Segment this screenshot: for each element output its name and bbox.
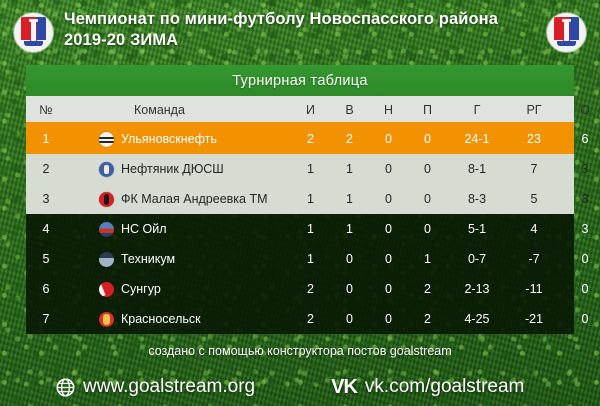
row-team: Красносельск <box>66 312 291 327</box>
poster-root: Чемпионат по мини-футболу Новоспасского … <box>0 0 600 406</box>
row-drawn: 0 <box>369 192 408 206</box>
section-title-band: Турнирная таблица <box>26 65 574 96</box>
site-link[interactable]: www.goalstream.org <box>56 376 255 398</box>
row-played: 1 <box>291 252 330 266</box>
vk-link[interactable]: VK vk.com/goalstream <box>331 376 524 399</box>
row-played: 1 <box>291 192 330 206</box>
row-position: 1 <box>26 132 66 146</box>
row-points: 0 <box>561 312 600 326</box>
crest-right-icon <box>547 13 586 52</box>
row-drawn: 0 <box>369 282 408 296</box>
row-team-label: Красносельск <box>121 312 201 326</box>
row-played: 2 <box>291 312 330 326</box>
team-logo-icon <box>99 222 114 237</box>
column-header-diff: РГ <box>507 103 561 117</box>
row-team: ФК Малая Андреевка ТМ <box>66 192 291 207</box>
table-row[interactable]: 7Красносельск20024-25-210 <box>26 304 574 334</box>
row-lost: 0 <box>408 222 447 236</box>
row-played: 2 <box>291 132 330 146</box>
row-team-label: Техникум <box>121 252 175 266</box>
row-position: 5 <box>26 252 66 266</box>
row-goals: 0-7 <box>447 252 507 266</box>
row-won: 0 <box>330 252 369 266</box>
row-lost: 2 <box>408 282 447 296</box>
row-lost: 0 <box>408 132 447 146</box>
team-logo-icon <box>99 312 114 327</box>
row-team: НС Ойл <box>66 222 291 237</box>
row-team: Ульяновскнефть <box>66 132 291 147</box>
row-team-label: ФК Малая Андреевка ТМ <box>121 192 268 206</box>
column-header-drawn: Н <box>369 103 408 117</box>
row-team-label: Ульяновскнефть <box>121 132 217 146</box>
row-team-label: НС Ойл <box>121 222 167 236</box>
row-goals: 4-25 <box>447 312 507 326</box>
table-row[interactable]: 3ФК Малая Андреевка ТМ11008-353 <box>26 184 574 214</box>
table-header-row: № Команда И В Н П Г РГ О <box>26 96 574 124</box>
team-logo-icon <box>99 192 114 207</box>
footer-links: www.goalstream.org VK vk.com/goalstream <box>0 370 600 404</box>
row-diff: 7 <box>507 162 561 176</box>
row-goals: 5-1 <box>447 222 507 236</box>
row-points: 0 <box>561 252 600 266</box>
table-row[interactable]: 5Техникум10010-7-70 <box>26 244 574 274</box>
row-played: 1 <box>291 162 330 176</box>
row-team: Нефтяник ДЮСШ <box>66 162 291 177</box>
row-goals: 2-13 <box>447 282 507 296</box>
row-team-label: Сунгур <box>121 282 161 296</box>
row-lost: 2 <box>408 312 447 326</box>
page-title: Чемпионат по мини-футболу Новоспасского … <box>64 9 534 51</box>
row-won: 1 <box>330 222 369 236</box>
team-logo-icon <box>99 282 114 297</box>
table-row[interactable]: 2Нефтяник ДЮСШ11008-173 <box>26 154 574 184</box>
row-played: 2 <box>291 282 330 296</box>
row-drawn: 0 <box>369 132 408 146</box>
row-points: 0 <box>561 282 600 296</box>
table-row[interactable]: 6Сунгур20022-13-110 <box>26 274 574 304</box>
vk-icon: VK <box>331 376 357 399</box>
row-diff: 5 <box>507 192 561 206</box>
section-title: Турнирная таблица <box>232 73 368 89</box>
site-link-label: www.goalstream.org <box>83 376 255 398</box>
column-header-points: О <box>561 103 600 117</box>
team-logo-icon <box>99 162 114 177</box>
crest-left-icon <box>14 13 53 52</box>
row-diff: -11 <box>507 282 561 296</box>
column-header-num: № <box>26 103 66 117</box>
column-header-goals: Г <box>447 103 507 117</box>
row-points: 3 <box>561 162 600 176</box>
row-position: 7 <box>26 312 66 326</box>
row-won: 0 <box>330 282 369 296</box>
row-team: Сунгур <box>66 282 291 297</box>
row-won: 1 <box>330 162 369 176</box>
footer-credit: создано с помощью конструктора постов go… <box>0 344 600 358</box>
table-row[interactable]: 1Ульяновскнефть220024-1236 <box>26 124 574 154</box>
row-position: 4 <box>26 222 66 236</box>
row-diff: 23 <box>507 132 561 146</box>
column-header-lost: П <box>408 103 447 117</box>
row-points: 3 <box>561 222 600 236</box>
column-header-team: Команда <box>66 103 291 117</box>
poster-header: Чемпионат по мини-футболу Новоспасского … <box>0 0 600 65</box>
team-logo-icon <box>99 132 114 147</box>
row-diff: -21 <box>507 312 561 326</box>
row-won: 1 <box>330 192 369 206</box>
team-logo-icon <box>99 252 114 267</box>
table-row[interactable]: 4НС Ойл11005-143 <box>26 214 574 244</box>
row-points: 6 <box>561 132 600 146</box>
row-drawn: 0 <box>369 312 408 326</box>
row-goals: 8-1 <box>447 162 507 176</box>
row-drawn: 0 <box>369 162 408 176</box>
row-lost: 0 <box>408 162 447 176</box>
row-goals: 8-3 <box>447 192 507 206</box>
column-header-played: И <box>291 103 330 117</box>
row-won: 0 <box>330 312 369 326</box>
row-points: 3 <box>561 192 600 206</box>
row-drawn: 0 <box>369 252 408 266</box>
row-lost: 1 <box>408 252 447 266</box>
row-team-label: Нефтяник ДЮСШ <box>121 162 224 176</box>
row-goals: 24-1 <box>447 132 507 146</box>
row-position: 2 <box>26 162 66 176</box>
column-header-won: В <box>330 103 369 117</box>
row-diff: -7 <box>507 252 561 266</box>
row-won: 2 <box>330 132 369 146</box>
row-diff: 4 <box>507 222 561 236</box>
row-position: 3 <box>26 192 66 206</box>
standings-table: № Команда И В Н П Г РГ О 1Ульяновскнефть… <box>26 96 574 336</box>
row-lost: 0 <box>408 192 447 206</box>
row-played: 1 <box>291 222 330 236</box>
globe-icon <box>56 378 75 397</box>
row-position: 6 <box>26 282 66 296</box>
row-team: Техникум <box>66 252 291 267</box>
vk-link-label: vk.com/goalstream <box>365 376 524 398</box>
row-drawn: 0 <box>369 222 408 236</box>
